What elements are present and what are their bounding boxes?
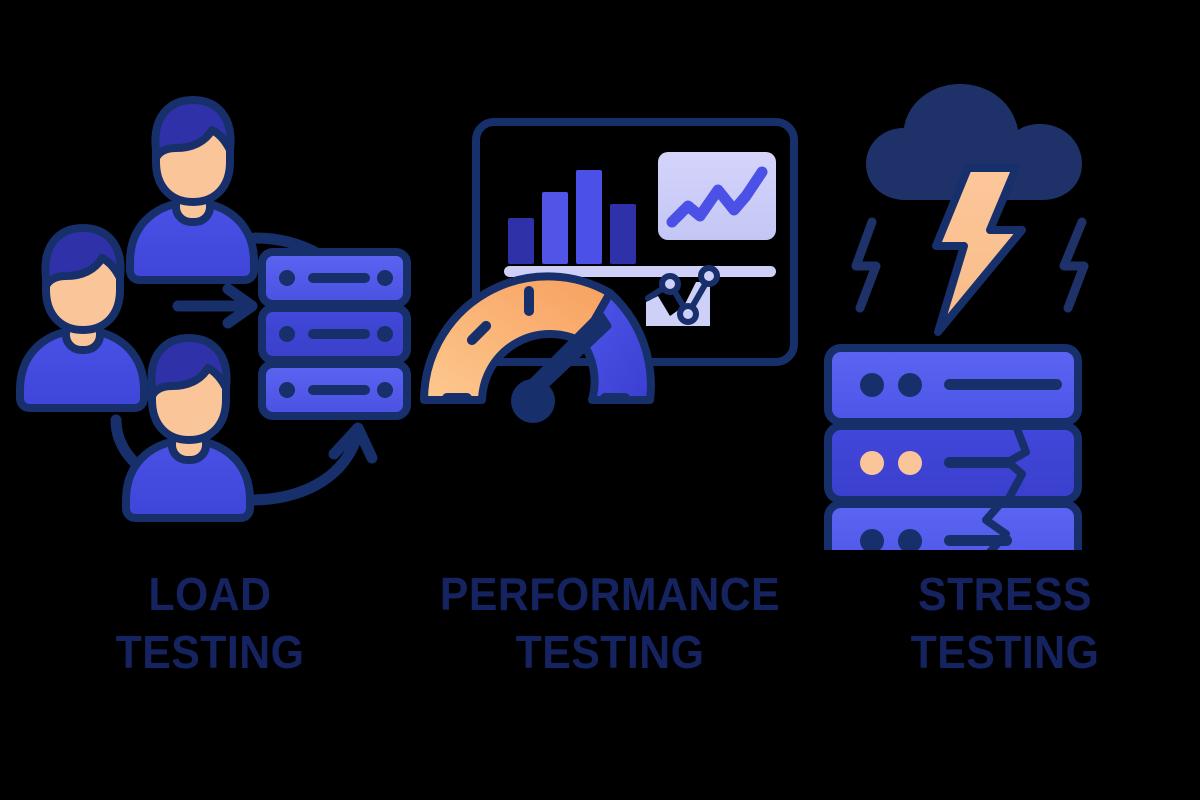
panel-stress-testing[interactable]: STRESS TESTING — [810, 0, 1200, 800]
bar-2 — [542, 192, 568, 264]
server-rack-unit — [262, 364, 407, 416]
user-avatar-middle — [20, 228, 144, 408]
lightning-bolt-right-icon — [1064, 222, 1084, 308]
server-rack-unit-middle-cracked — [828, 426, 1078, 500]
straight-arrow-icon — [178, 289, 252, 323]
panel-performance-testing[interactable]: PERFORMANCE TESTING — [400, 0, 820, 800]
status-light-warning — [860, 451, 884, 475]
caption-line-1: LOAD — [15, 565, 406, 623]
lightning-bolt-left-icon — [856, 222, 876, 308]
server-rack-unit-bottom-cracked — [828, 504, 1078, 550]
status-light-warning — [898, 451, 922, 475]
panel-load-testing[interactable]: LOAD TESTING — [0, 0, 420, 800]
gauge-hub — [511, 379, 555, 423]
cracked-server-stack — [828, 348, 1078, 550]
bar-4 — [610, 204, 636, 264]
server-rack-unit-top — [828, 348, 1078, 422]
caption-stress-testing: STRESS TESTING — [824, 565, 1187, 681]
caption-line-2: TESTING — [415, 623, 806, 681]
status-light — [898, 373, 922, 397]
caption-line-1: STRESS — [824, 565, 1187, 623]
dashboard-bar-chart — [508, 170, 636, 264]
load-testing-illustration — [0, 70, 420, 555]
caption-load-testing: LOAD TESTING — [15, 565, 406, 681]
caption-line-1: PERFORMANCE — [415, 565, 806, 623]
performance-testing-illustration — [400, 70, 820, 555]
bar-1 — [508, 218, 534, 264]
user-avatar-bottom — [126, 338, 250, 518]
status-light — [860, 373, 884, 397]
server-rack-unit — [262, 308, 407, 360]
stress-testing-illustration — [810, 70, 1200, 555]
bar-3 — [576, 170, 602, 264]
user-avatar-top — [130, 100, 254, 280]
server-rack-stack — [262, 252, 407, 416]
caption-line-2: TESTING — [824, 623, 1187, 681]
performance-gauge — [424, 276, 651, 423]
caption-line-2: TESTING — [15, 623, 406, 681]
dashboard-line-chart-card — [658, 152, 776, 240]
infographic-canvas: LOAD TESTING — [0, 0, 1200, 800]
caption-performance-testing: PERFORMANCE TESTING — [415, 565, 806, 681]
server-rack-unit — [262, 252, 407, 304]
